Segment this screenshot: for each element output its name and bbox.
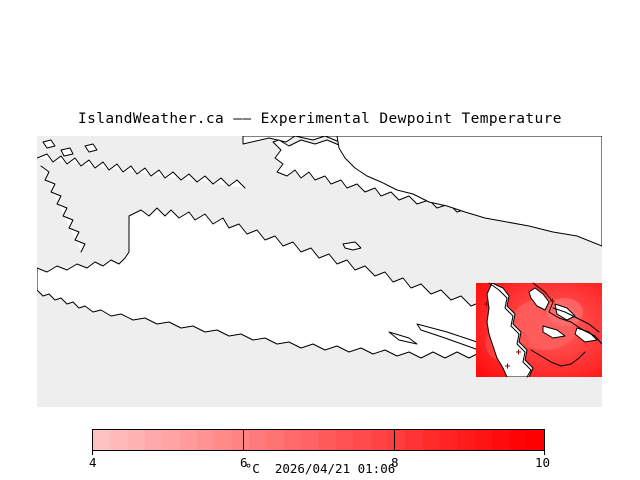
page-title: IslandWeather.ca —— Experimental Dewpoin… bbox=[0, 111, 640, 127]
colorbar-segment bbox=[232, 430, 249, 450]
colorbar[interactable] bbox=[92, 429, 545, 451]
colorbar-segment bbox=[527, 430, 544, 450]
coastline-islet-nw-1 bbox=[43, 140, 55, 148]
colorbar-segment bbox=[423, 430, 440, 450]
colorbar-segment bbox=[162, 430, 179, 450]
colorbar-segment bbox=[249, 430, 266, 450]
map-panel[interactable] bbox=[37, 136, 602, 407]
colorbar-segment bbox=[110, 430, 127, 450]
coastline-northwest-inlets bbox=[37, 154, 245, 188]
colorbar-segment bbox=[440, 430, 457, 450]
coastline-crescent-island bbox=[343, 242, 361, 250]
colorbar-segment bbox=[93, 430, 110, 450]
colorbar-segment bbox=[336, 430, 353, 450]
colorbar-gradient[interactable] bbox=[92, 429, 545, 451]
colorbar-segment bbox=[214, 430, 231, 450]
colorbar-segment bbox=[301, 430, 318, 450]
colorbar-caption: °C 2026/04/21 01:06 bbox=[0, 461, 640, 476]
colorbar-segment bbox=[509, 430, 526, 450]
colorbar-segment bbox=[128, 430, 145, 450]
colorbar-segment bbox=[475, 430, 492, 450]
colorbar-segment bbox=[371, 430, 388, 450]
colorbar-segment bbox=[284, 430, 301, 450]
colorbar-segment bbox=[492, 430, 509, 450]
coastline-islet-nw-2 bbox=[61, 148, 73, 156]
colorbar-segment bbox=[145, 430, 162, 450]
colorbar-segment bbox=[353, 430, 370, 450]
colorbar-tick-6 bbox=[243, 429, 244, 451]
colorbar-tick-8 bbox=[394, 429, 395, 451]
weather-map-page: IslandWeather.ca —— Experimental Dewpoin… bbox=[0, 0, 640, 480]
coastline-islet-nw-3 bbox=[85, 144, 97, 152]
colorbar-segment bbox=[405, 430, 422, 450]
map-canvas[interactable] bbox=[37, 136, 602, 407]
colorbar-segment bbox=[388, 430, 405, 450]
colorbar-segment bbox=[318, 430, 335, 450]
coastline-northwest-detail bbox=[41, 166, 85, 252]
colorbar-segment bbox=[457, 430, 474, 450]
colorbar-segment bbox=[197, 430, 214, 450]
colorbar-segment bbox=[180, 430, 197, 450]
colorbar-segment bbox=[266, 430, 283, 450]
